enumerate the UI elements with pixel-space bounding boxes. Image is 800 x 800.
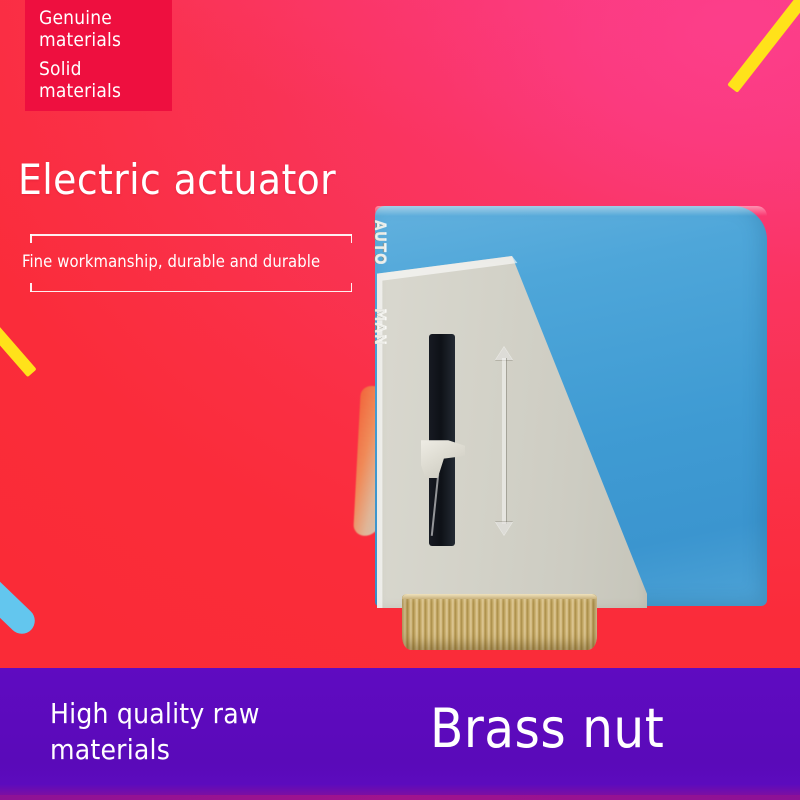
arrow-down-icon bbox=[495, 522, 513, 536]
bottom-banner: High quality raw materials Brass nut bbox=[0, 668, 800, 800]
product-image: AUTO MAN bbox=[355, 196, 775, 656]
feature-badge-box: Genuine materials Solid materials bbox=[25, 0, 172, 111]
brass-nut-part bbox=[402, 594, 597, 650]
banner-bottom-strip bbox=[0, 795, 800, 800]
page-title: Electric actuator bbox=[18, 156, 336, 204]
marking-label-man: MAN bbox=[371, 308, 389, 346]
marking-label-auto: AUTO bbox=[371, 220, 389, 266]
frame-edge-left-lower bbox=[30, 283, 32, 292]
frame-edge-left-upper bbox=[30, 234, 32, 243]
frame-edge-top bbox=[30, 234, 352, 236]
subtitle-frame: Fine workmanship, durable and durable bbox=[22, 234, 352, 292]
frame-edge-bottom bbox=[30, 291, 352, 293]
slider-gloss bbox=[431, 474, 439, 536]
frame-edge-right-lower bbox=[351, 283, 353, 292]
promo-banner-canvas: Genuine materials Solid materials Electr… bbox=[0, 0, 800, 800]
badge-line-solid-materials: Solid materials bbox=[39, 58, 172, 102]
subtitle-text: Fine workmanship, durable and durable bbox=[22, 251, 352, 273]
brass-nut-top-lip bbox=[402, 594, 597, 599]
frame-edge-right-upper bbox=[351, 234, 353, 243]
auto-man-marking-group bbox=[483, 346, 525, 536]
marking-stem bbox=[502, 358, 506, 524]
badge-line-genuine-materials: Genuine materials bbox=[39, 7, 172, 51]
banner-right-text: Brass nut bbox=[430, 698, 664, 760]
banner-left-text: High quality raw materials bbox=[50, 696, 350, 768]
manual-override-slider-track bbox=[429, 334, 455, 546]
